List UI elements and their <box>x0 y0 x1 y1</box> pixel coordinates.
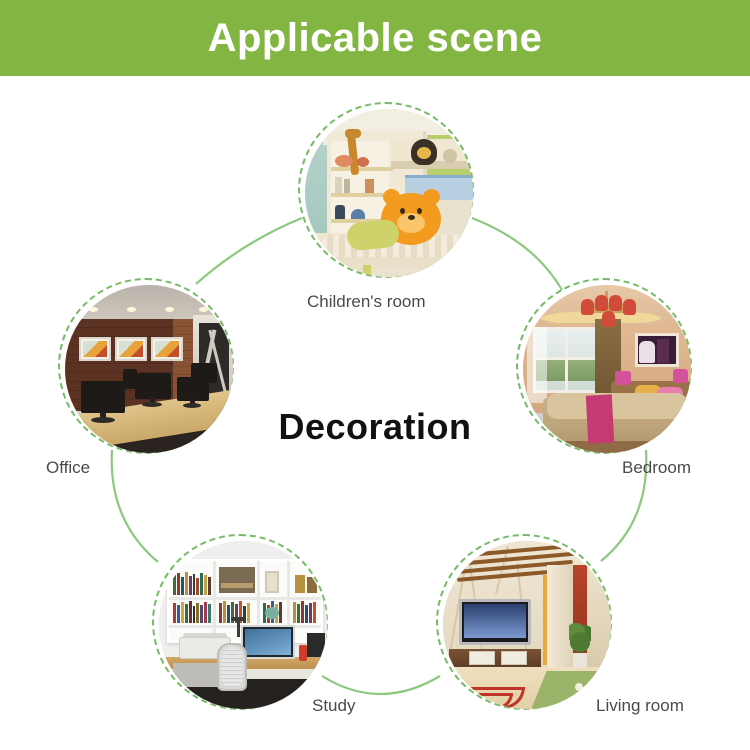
scene-label-bedroom: Bedroom <box>622 458 691 478</box>
scene-node-study[interactable] <box>152 534 334 716</box>
scene-label-living-room: Living room <box>596 696 684 716</box>
childrens-room-circle-border <box>298 102 474 278</box>
bedroom-photo <box>523 285 691 453</box>
living-room-photo <box>443 541 611 709</box>
scene-diagram: Decoration <box>0 76 750 750</box>
scene-node-living-room[interactable] <box>436 534 618 716</box>
bedroom-circle-border <box>516 278 692 454</box>
study-circle-border <box>152 534 328 710</box>
office-photo <box>65 285 233 453</box>
applicable-scene-page: Applicable scene Decoration <box>0 0 750 750</box>
childrens-room-photo <box>305 109 473 277</box>
scene-node-office[interactable] <box>58 278 240 460</box>
scene-label-childrens-room: Children's room <box>307 292 426 312</box>
page-title: Applicable scene <box>208 18 543 58</box>
scene-label-study: Study <box>312 696 355 716</box>
page-header-banner: Applicable scene <box>0 0 750 76</box>
office-circle-border <box>58 278 234 454</box>
living-room-circle-border <box>436 534 612 710</box>
scene-node-childrens-room[interactable] <box>298 102 480 284</box>
scene-label-office: Office <box>46 458 90 478</box>
scene-node-bedroom[interactable] <box>516 278 698 460</box>
study-photo <box>159 541 327 709</box>
